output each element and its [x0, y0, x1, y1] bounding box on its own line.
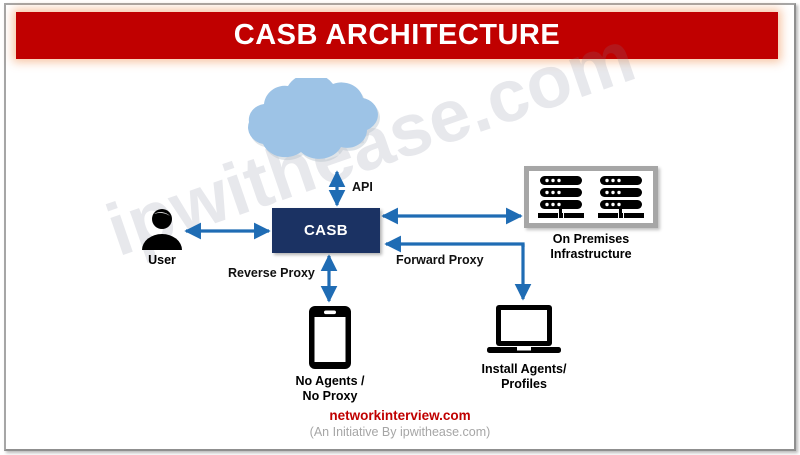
server-rack-icon: [524, 166, 658, 228]
laptop-icon: [486, 303, 562, 358]
user-icon: [140, 208, 184, 250]
footer-brand: networkinterview.com: [0, 408, 800, 423]
casb-label: CASB: [304, 222, 348, 239]
install-agents-label: Install Agents/ Profiles: [462, 362, 586, 392]
screenshot-root: CASB ARCHITECTURE ipwithease.com: [0, 0, 800, 455]
edge-onprem-casb-forward: [386, 244, 523, 247]
on-premises-label: On Premises Infrastructure: [520, 232, 662, 262]
connector-layer: [0, 0, 800, 455]
footer-tagline: (An Initiative By ipwithease.com): [0, 425, 800, 439]
casb-node: CASB: [272, 208, 380, 253]
edge-label-forward-proxy: Forward Proxy: [396, 253, 484, 267]
diagram-canvas: CASB User: [0, 0, 800, 455]
edge-label-api: API: [352, 180, 373, 194]
no-agents-label: No Agents / No Proxy: [276, 374, 384, 404]
mobile-phone-icon: [308, 305, 352, 370]
cloud-icon: [222, 78, 390, 170]
user-label: User: [120, 253, 204, 268]
edge-label-reverse-proxy: Reverse Proxy: [228, 266, 315, 280]
